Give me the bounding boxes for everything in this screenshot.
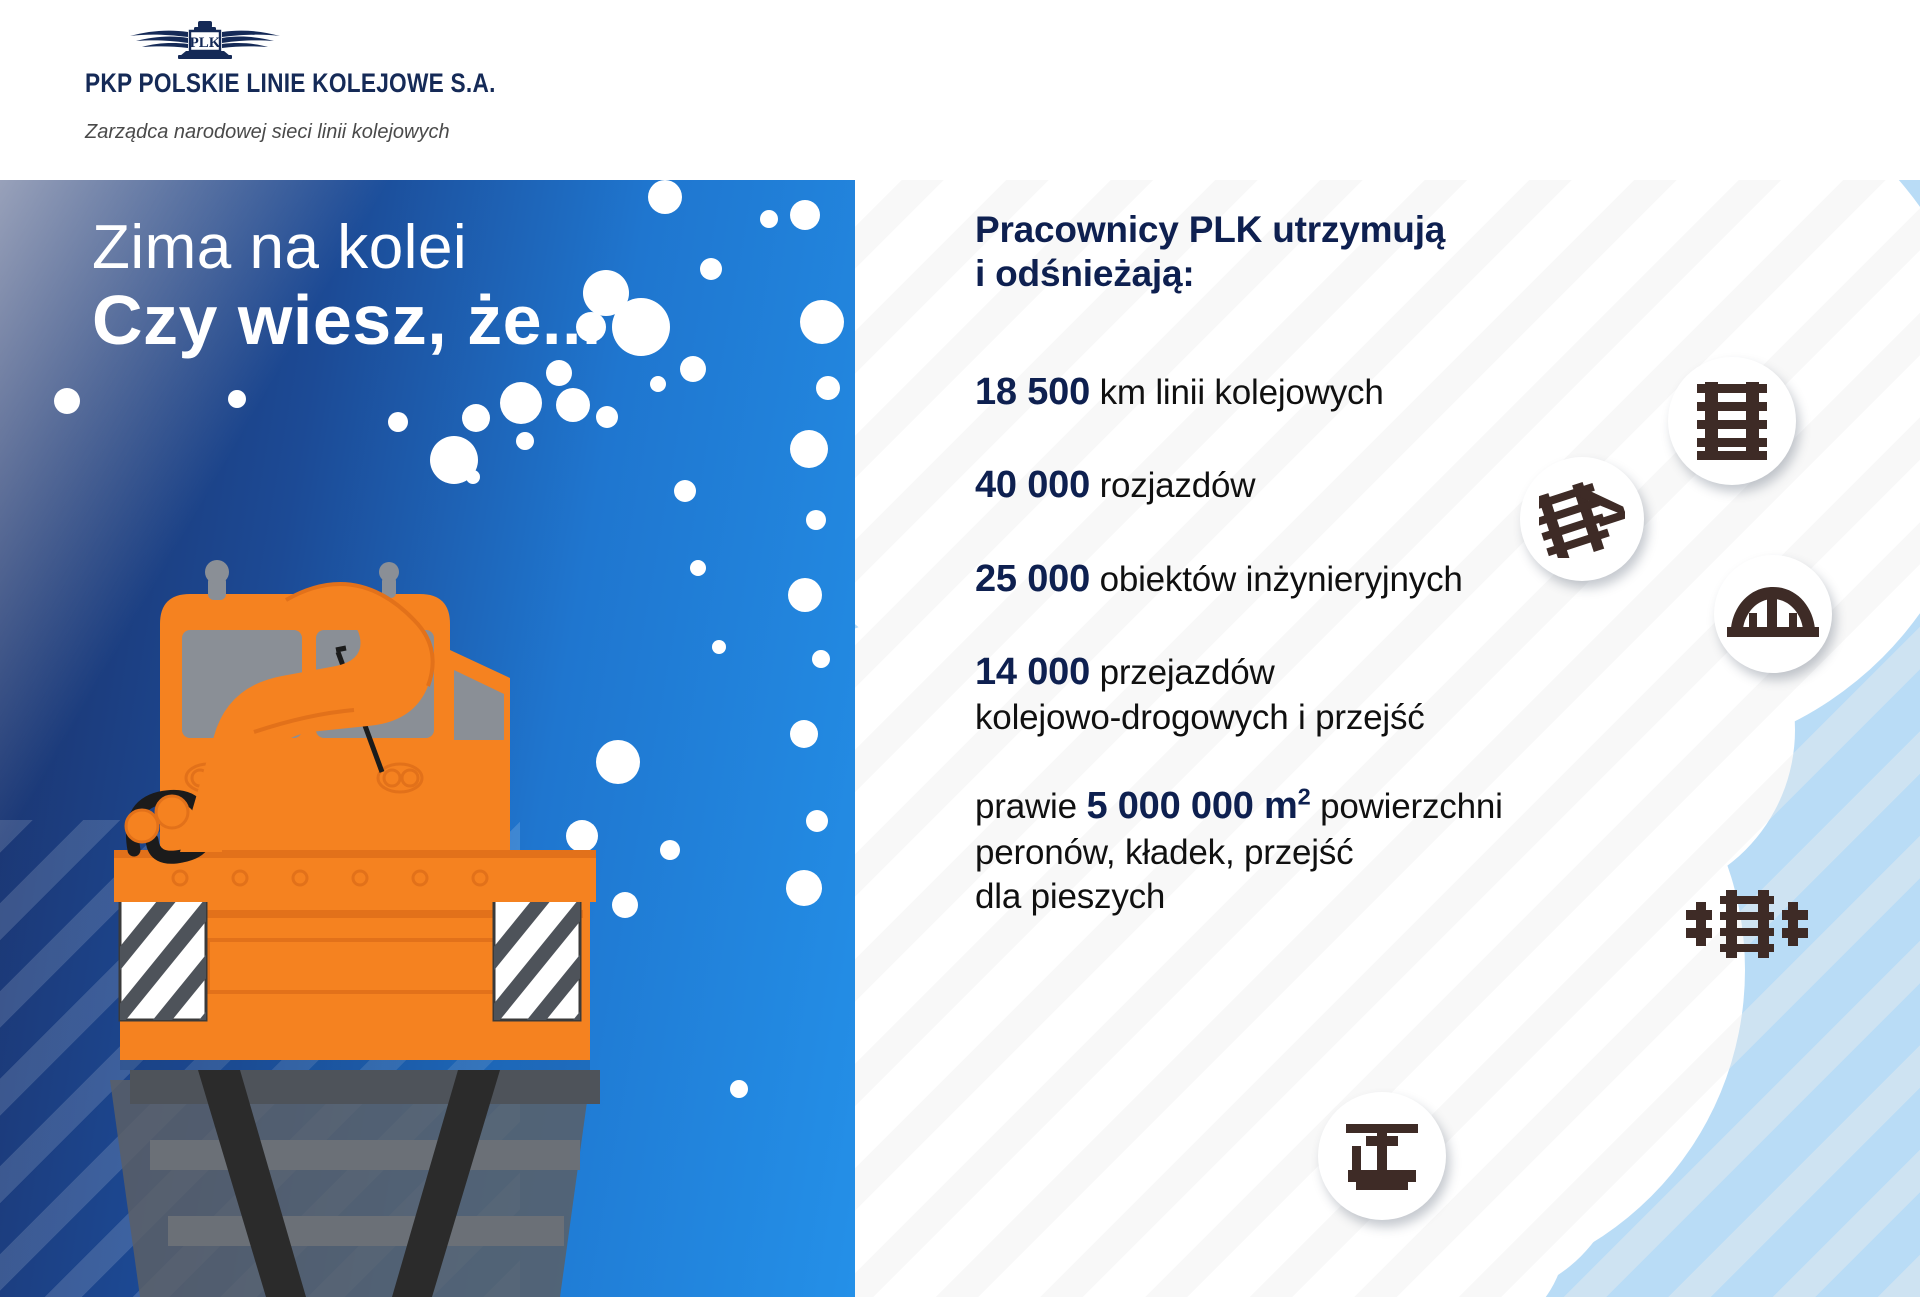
plk-winged-logo-icon: PLK: [90, 18, 320, 64]
hero-line-2: Czy wiesz, że...: [92, 284, 602, 358]
area-number: 5 000 000 m2: [1086, 785, 1310, 827]
stat-label-line-2: kolejowo-drogowych i przejść: [975, 696, 1695, 739]
rail-track: [110, 1070, 600, 1297]
level-crossing-icon-wrapper: [1682, 890, 1812, 976]
level-crossing-icon: [1682, 890, 1812, 976]
stats-title-line-1: Pracownicy PLK utrzymują: [975, 208, 1695, 252]
stat-number: 18 500: [975, 371, 1090, 413]
bridge-icon-badge: [1714, 555, 1832, 673]
rail-switch-icon-badge: [1520, 457, 1644, 581]
company-tagline: Zarządca narodowej sieci linii kolejowyc…: [85, 121, 574, 144]
snowplow-train-illustration: [90, 380, 710, 1297]
area-line-2: peronów, kładek, przejść: [975, 831, 1695, 875]
rail-switch-icon: [1539, 480, 1625, 558]
area-exponent: 2: [1298, 783, 1311, 809]
stat-item-rail-lines: 18 500 km linii kolejowych: [975, 369, 1695, 416]
company-name: PKP POLSKIE LINIE KOLEJOWE S.A.: [85, 68, 496, 99]
page-header: PLK PKP POLSKIE LINIE KOLEJOWE S.A. Zarz…: [0, 0, 1920, 180]
stat-item-surface-area: prawie 5 000 000 m2 powierzchni peronów,…: [975, 783, 1695, 919]
area-number-value: 5 000 000 m: [1086, 785, 1297, 827]
stat-number: 14 000: [975, 651, 1090, 693]
stat-label: rozjazdów: [1100, 466, 1256, 505]
rail-track-icon-badge: [1668, 357, 1796, 485]
hero-headline: Zima na kolei Czy wiesz, że...: [92, 215, 602, 358]
area-line-3: dla pieszych: [975, 875, 1695, 919]
area-prefix: prawie: [975, 787, 1077, 826]
rail-track-icon: [1693, 380, 1771, 462]
stats-list: 18 500 km linii kolejowych 40 000 rozjaz…: [975, 369, 1695, 919]
area-suffix: powierzchni: [1320, 787, 1503, 826]
plow-chassis: [90, 850, 664, 1080]
logo-block: PLK PKP POLSKIE LINIE KOLEJOWE S.A. Zarz…: [85, 18, 574, 144]
stat-label: km linii kolejowych: [1100, 373, 1384, 412]
stat-number: 25 000: [975, 558, 1090, 600]
stat-number: 40 000: [975, 464, 1090, 506]
platform-icon-badge: [1318, 1092, 1446, 1220]
hero-line-1: Zima na kolei: [92, 215, 602, 280]
bridge-icon: [1727, 583, 1819, 645]
stat-label: obiektów inżynieryjnych: [1100, 560, 1463, 599]
infographic-canvas: Zima na kolei Czy wiesz, że... Pracownic…: [0, 180, 1920, 1297]
platform-icon: [1342, 1116, 1422, 1196]
stat-item-level-crossings: 14 000 przejazdów kolejowo-drogowych i p…: [975, 649, 1695, 740]
stat-label: przejazdów: [1100, 653, 1275, 692]
stats-title-line-2: i odśnieżają:: [975, 252, 1695, 296]
svg-text:PLK: PLK: [190, 35, 221, 51]
stats-panel-title: Pracownicy PLK utrzymują i odśnieżają:: [975, 208, 1695, 295]
